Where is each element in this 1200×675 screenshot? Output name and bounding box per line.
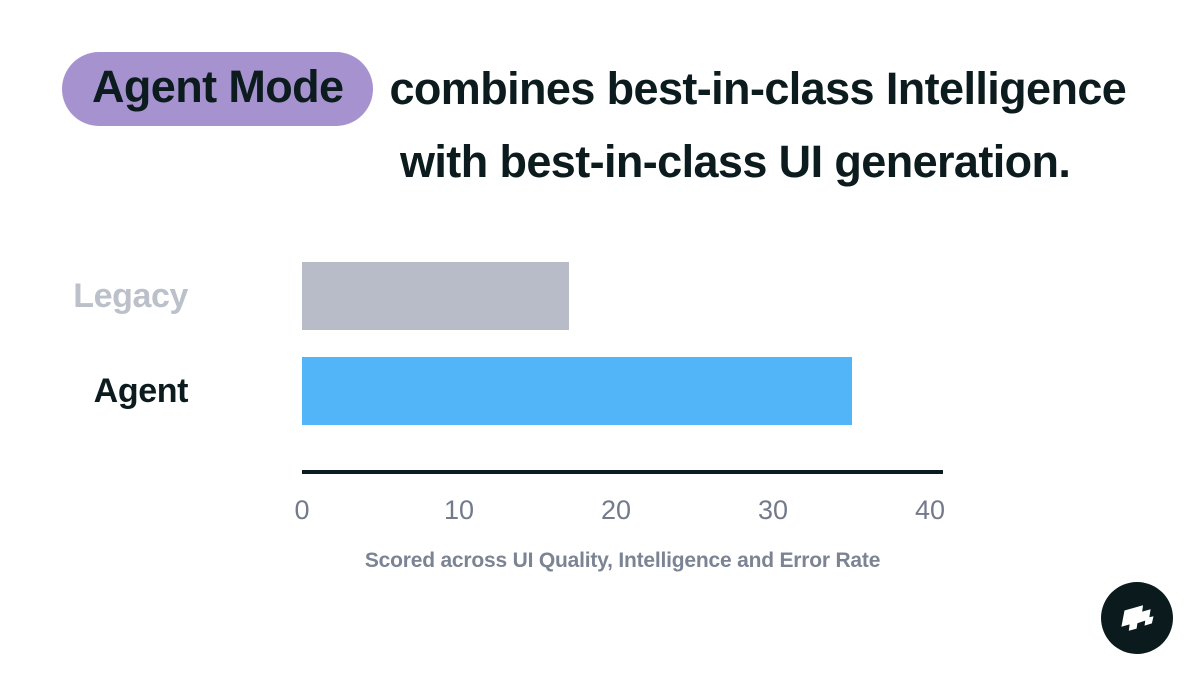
headline: Agent Mode combines best-in-class Intell… (62, 52, 1152, 192)
category-label-agent: Agent (0, 357, 188, 425)
chart-caption: Scored across UI Quality, Intelligence a… (302, 549, 943, 573)
agent-mode-pill: Agent Mode (62, 52, 373, 126)
bar-legacy (302, 262, 569, 330)
category-label-legacy: Legacy (0, 262, 188, 330)
x-axis-line (302, 470, 943, 474)
chart-row-legacy: Legacy (0, 262, 1200, 357)
flag-mark-icon (1119, 603, 1155, 633)
x-tick-20: 20 (601, 492, 631, 528)
x-tick-30: 30 (758, 492, 788, 528)
bar-agent (302, 357, 852, 425)
headline-line-1-text: combines best-in-class Intelligence (389, 59, 1126, 119)
x-tick-0: 0 (294, 492, 309, 528)
bar-track-agent (302, 357, 930, 425)
headline-line-1: Agent Mode combines best-in-class Intell… (62, 52, 1152, 126)
headline-line-2: with best-in-class UI generation. (62, 132, 1152, 192)
x-tick-10: 10 (444, 492, 474, 528)
bar-chart: Legacy Agent (0, 262, 1200, 452)
x-axis-tick-labels: 010203040 (302, 492, 930, 528)
chart-row-agent: Agent (0, 357, 1200, 452)
bar-track-legacy (302, 262, 930, 330)
logo-badge[interactable] (1101, 582, 1173, 654)
x-tick-40: 40 (915, 492, 945, 528)
